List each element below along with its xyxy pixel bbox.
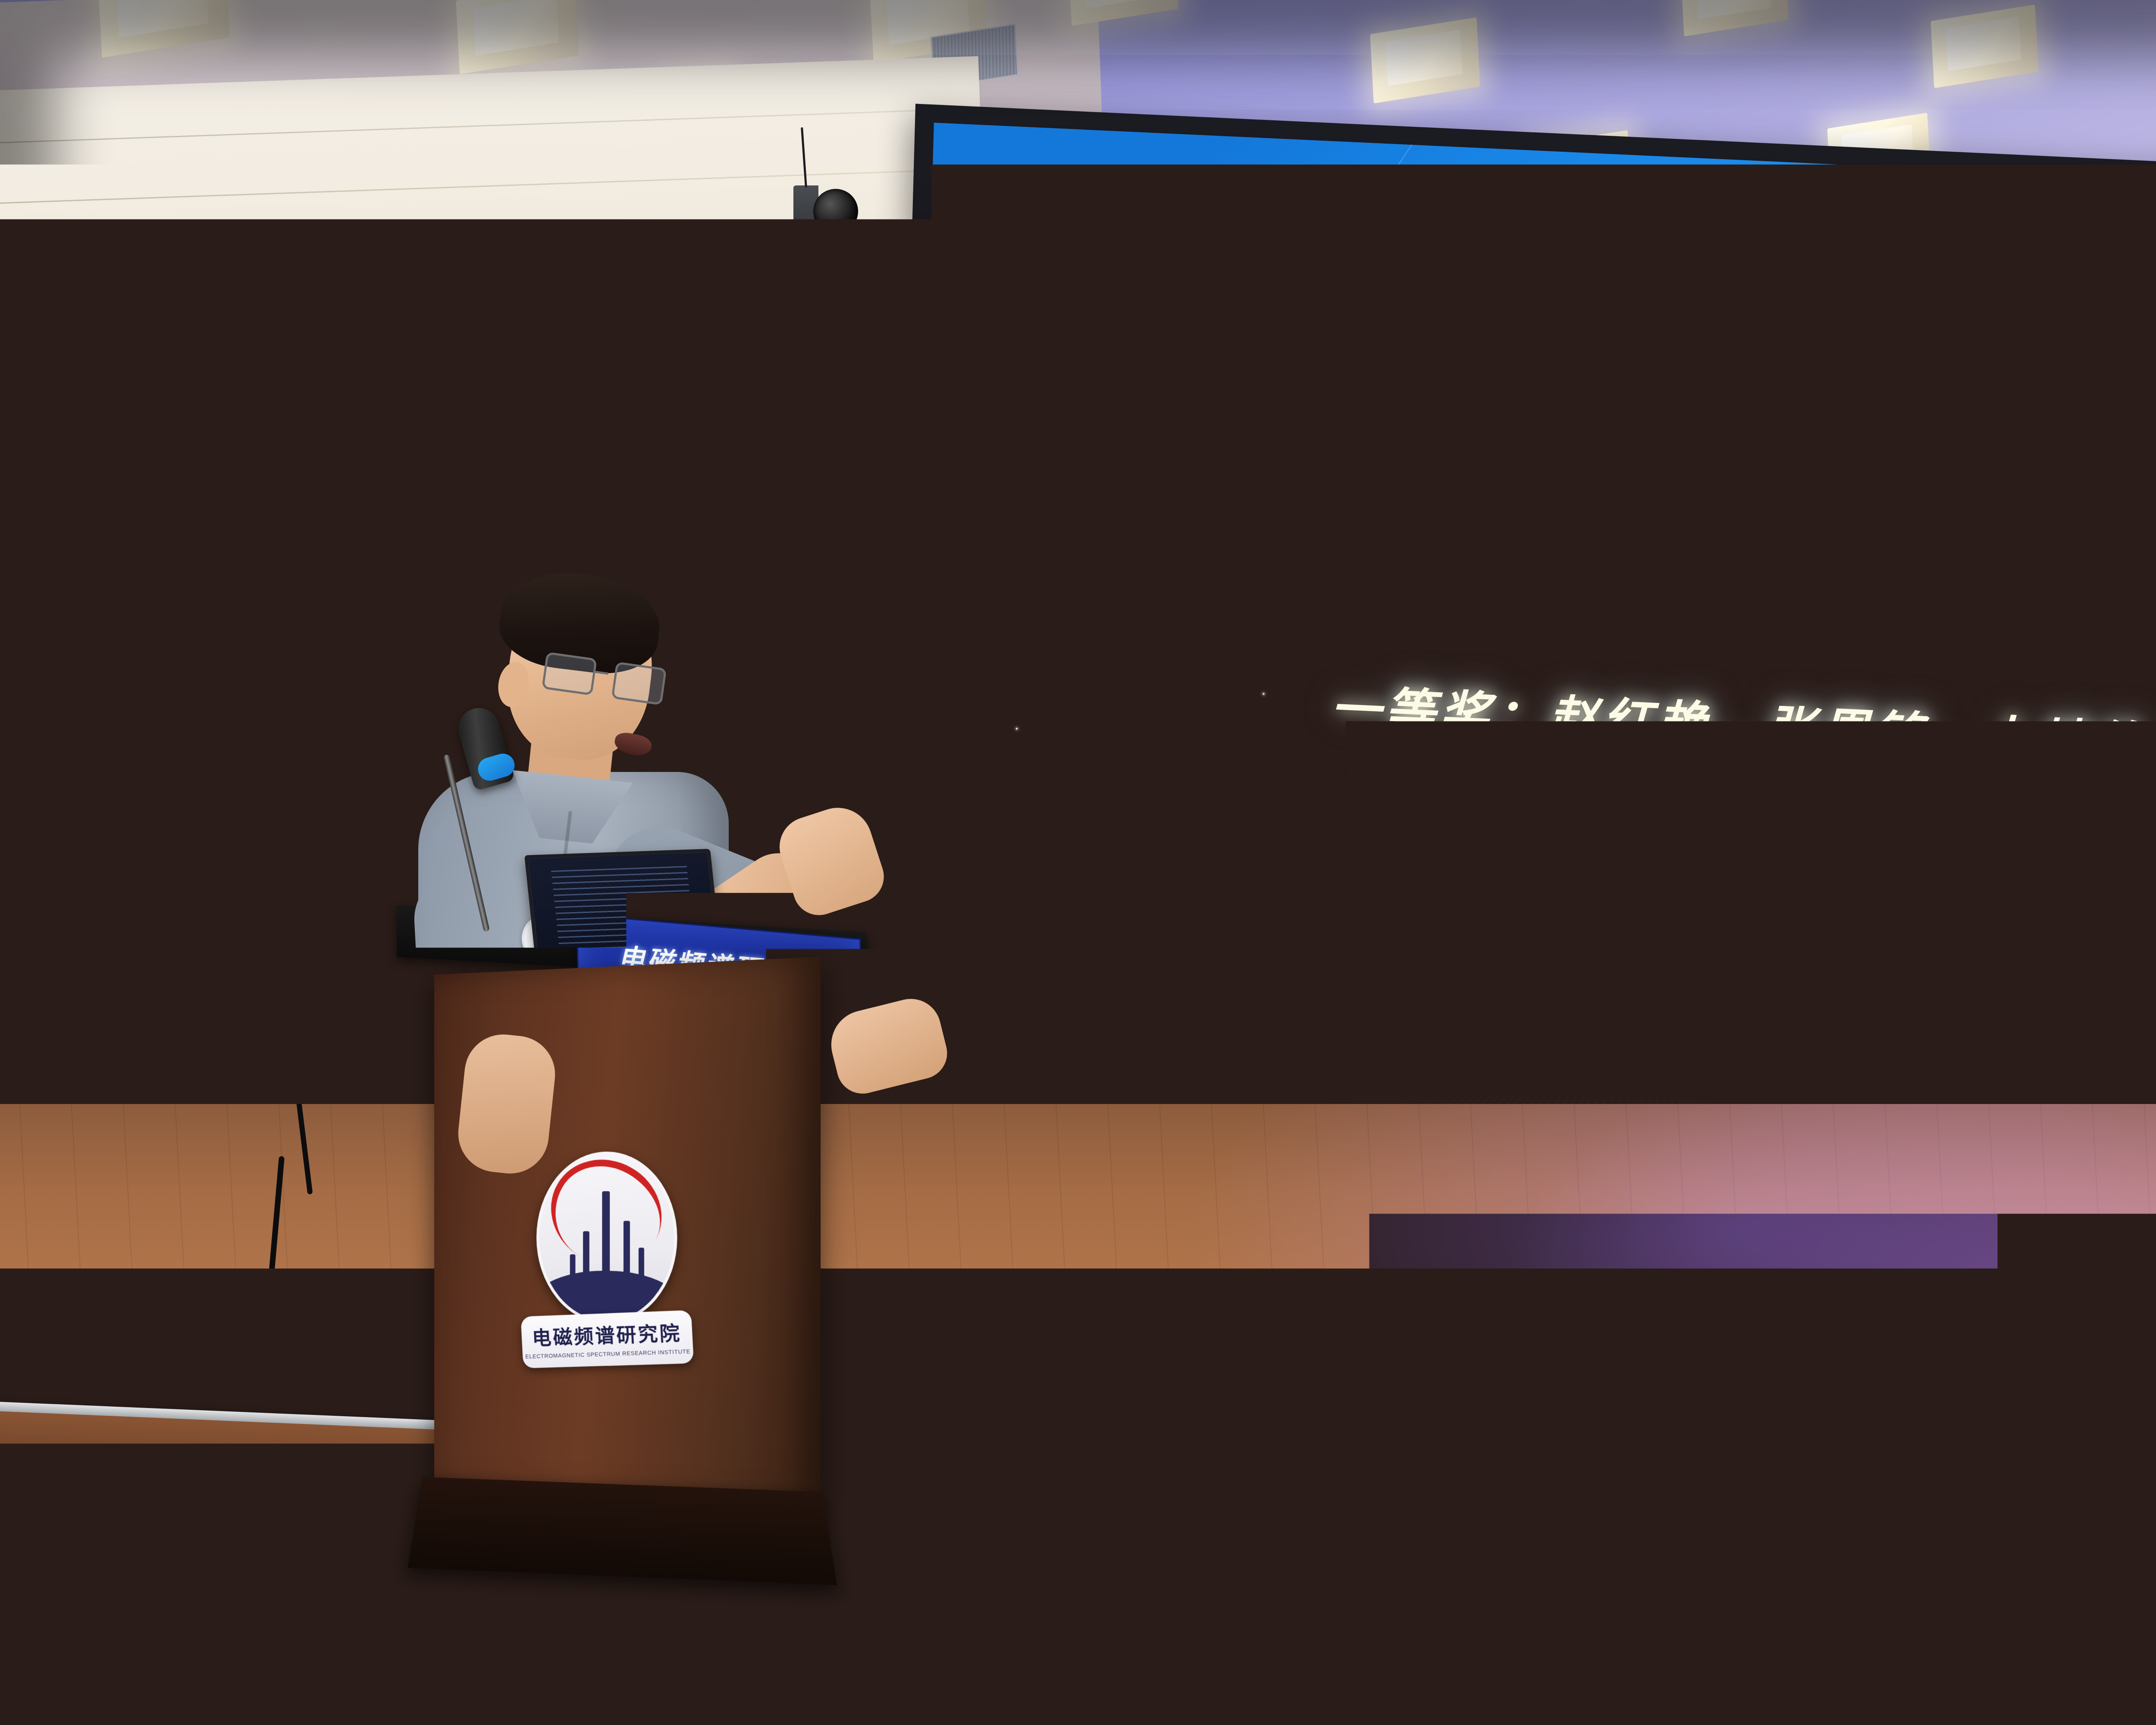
podium-confidence-monitor bbox=[524, 849, 722, 967]
led-display-wall: 南 京 航 空 航 天 大 学 bbox=[888, 103, 2156, 1181]
floor-cable bbox=[296, 1104, 313, 1195]
ceiling-light bbox=[1930, 5, 2038, 88]
podium-emblem-oval bbox=[536, 1151, 677, 1325]
screen-bezel: 南 京 航 空 航 天 大 学 bbox=[888, 103, 2156, 1181]
nuaa-abbreviation: NUAA bbox=[1016, 292, 1073, 310]
podium-emblem: 电磁频谱研究院 ELECTROMAGNETIC SPECTRUM RESEARC… bbox=[518, 1151, 697, 1395]
speaker-mouth bbox=[613, 731, 653, 759]
ceiling-light bbox=[1680, 0, 1788, 36]
inner-room-ceiling bbox=[269, 426, 807, 579]
esri-oval-logo-icon: 电磁频谱研究院 ELECTROMAGNETIC SPECTRUM RESEARC… bbox=[1138, 185, 1281, 366]
ceiling-light bbox=[1370, 17, 1480, 103]
esri-oval-mark bbox=[1154, 186, 1266, 320]
floor-cable bbox=[256, 1156, 285, 1423]
slide-logo-group: 南 京 航 空 航 天 大 学 bbox=[978, 178, 1280, 366]
stage-floor bbox=[0, 1104, 2156, 1725]
ptz-conference-camera bbox=[793, 185, 858, 276]
conference-hall-photo: 南 京 航 空 航 天 大 学 bbox=[0, 0, 2156, 1725]
esri-logo-text: 电磁频谱研究院 ELECTROMAGNETIC SPECTRUM RESEARC… bbox=[1138, 319, 1277, 366]
esri-base-shape bbox=[1154, 280, 1266, 320]
podium-base bbox=[407, 1477, 837, 1585]
door-transom-grille bbox=[0, 396, 236, 463]
presentation-slide: 南 京 航 空 航 天 大 学 bbox=[908, 123, 2156, 1158]
nuaa-ring-text: 南 京 航 空 航 天 大 学 bbox=[982, 181, 1110, 310]
speaker-person bbox=[379, 569, 768, 1087]
ceiling-light bbox=[1068, 0, 1178, 26]
esri-name-cn: 电磁频谱研究院 bbox=[1138, 319, 1277, 351]
nuaa-founding-year: 1952 bbox=[1032, 270, 1059, 283]
podium-emblem-plate: 电磁频谱研究院 ELECTROMAGNETIC SPECTRUM RESEARC… bbox=[521, 1310, 694, 1368]
podium-emblem-name-cn: 电磁频谱研究院 bbox=[523, 1317, 690, 1351]
door-handle-icon[interactable] bbox=[200, 1007, 220, 1060]
nuaa-triangle-icon bbox=[1013, 214, 1079, 269]
nuaa-seal-icon: 南 京 航 空 航 天 大 学 bbox=[980, 178, 1112, 313]
